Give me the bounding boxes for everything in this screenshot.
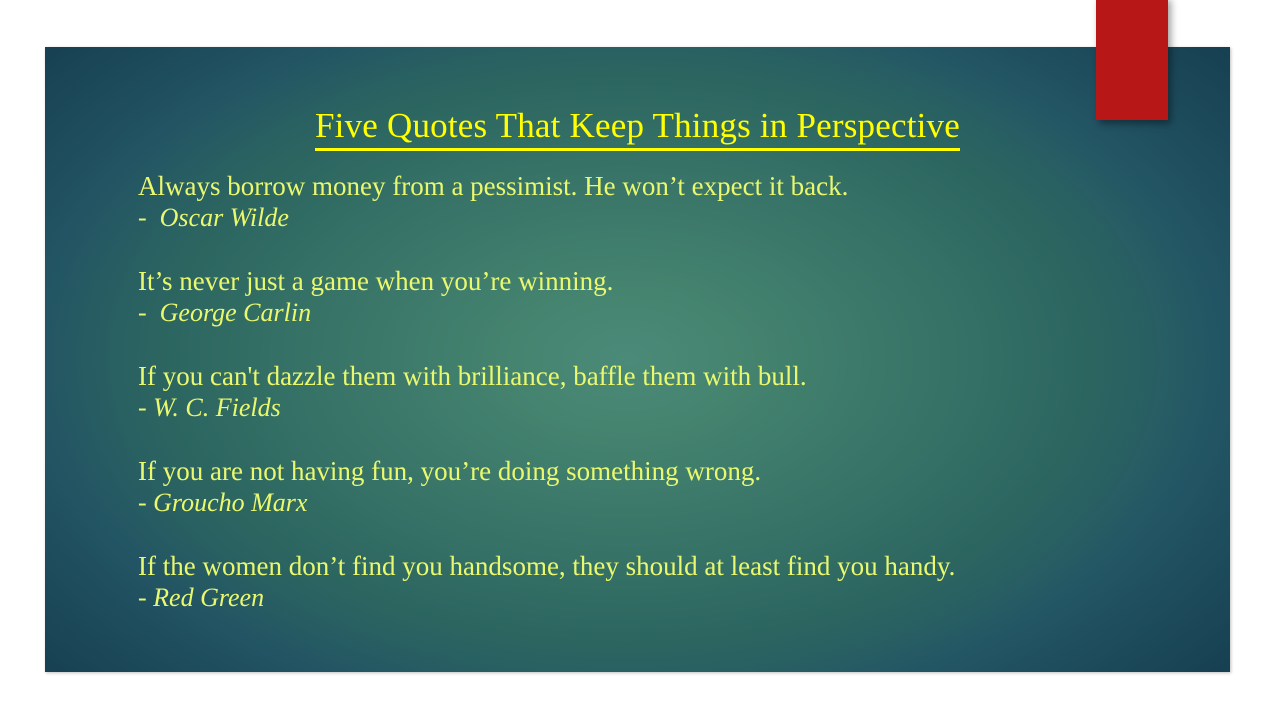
presentation-canvas: Five Quotes That Keep Things in Perspect… <box>0 0 1280 720</box>
quote-item: If you are not having fun, you’re doing … <box>138 455 1198 519</box>
quote-item: Always borrow money from a pessimist. He… <box>138 170 1198 234</box>
quote-text: If the women don’t find you handsome, th… <box>138 550 1198 582</box>
slide: Five Quotes That Keep Things in Perspect… <box>45 47 1230 672</box>
quote-text: If you are not having fun, you’re doing … <box>138 455 1198 487</box>
quote-item: It’s never just a game when you’re winni… <box>138 265 1198 329</box>
quote-item: If the women don’t find you handsome, th… <box>138 550 1198 614</box>
quote-author: - W. C. Fields <box>138 392 1198 424</box>
quote-list: Always borrow money from a pessimist. He… <box>138 170 1198 614</box>
quote-text: It’s never just a game when you’re winni… <box>138 265 1198 297</box>
red-accent-rectangle <box>1096 0 1168 120</box>
quote-item: If you can't dazzle them with brilliance… <box>138 360 1198 424</box>
slide-title-text: Five Quotes That Keep Things in Perspect… <box>315 106 960 151</box>
quote-text: If you can't dazzle them with brilliance… <box>138 360 1198 392</box>
quote-author: - Red Green <box>138 582 1198 614</box>
quote-author: - George Carlin <box>138 297 1198 329</box>
quote-text: Always borrow money from a pessimist. He… <box>138 170 1198 202</box>
quote-author: - Groucho Marx <box>138 487 1198 519</box>
quote-author: - Oscar Wilde <box>138 202 1198 234</box>
slide-content-area: Five Quotes That Keep Things in Perspect… <box>45 47 1230 672</box>
slide-title: Five Quotes That Keep Things in Perspect… <box>45 105 1230 147</box>
